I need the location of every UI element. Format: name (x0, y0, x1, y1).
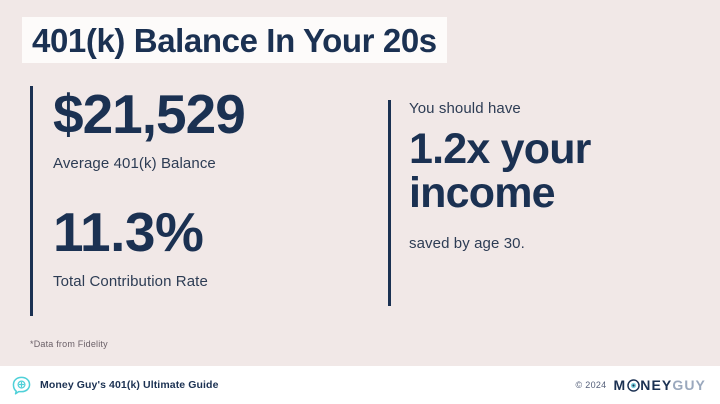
stat-block-contribution-rate: 11.3% Total Contribution Rate (53, 206, 360, 290)
brand-letters-ney: NEY (640, 378, 672, 392)
benchmark-kicker: You should have (409, 100, 703, 117)
speech-bubble-plus-icon (12, 376, 31, 395)
footer-copyright-group: © 2024 M NEY GUY (576, 378, 706, 392)
source-note: *Data from Fidelity (30, 339, 108, 349)
brand-letter-m: M (614, 378, 627, 392)
left-stats-column: $21,529 Average 401(k) Balance 11.3% Tot… (30, 86, 360, 316)
page-title-highlight: 401(k) Balance In Your 20s (22, 17, 447, 63)
stat-value-contribution-rate: 11.3% (53, 206, 360, 259)
benchmark-headline-line-2: income (409, 172, 703, 216)
footer-bar: Money Guy's 401(k) Ultimate Guide © 2024… (0, 366, 720, 404)
stat-label-average-balance: Average 401(k) Balance (53, 155, 360, 172)
footer-brand-group[interactable]: Money Guy's 401(k) Ultimate Guide (12, 376, 219, 395)
footer-guide-title: Money Guy's 401(k) Ultimate Guide (40, 379, 219, 391)
stat-label-contribution-rate: Total Contribution Rate (53, 273, 360, 290)
copyright-text: © 2024 (576, 380, 607, 390)
benchmark-headline: 1.2x your income (409, 128, 703, 216)
benchmark-footnote: saved by age 30. (409, 235, 703, 252)
infographic-canvas: 401(k) Balance In Your 20s $21,529 Avera… (0, 0, 720, 404)
stat-block-average-balance: $21,529 Average 401(k) Balance (53, 88, 360, 172)
moneyguy-logo[interactable]: M NEY GUY (614, 378, 707, 392)
eye-circle-logo-icon (627, 379, 640, 392)
benchmark-headline-line-1: 1.2x your (409, 128, 703, 172)
right-benchmark-column: You should have 1.2x your income saved b… (388, 100, 703, 306)
brand-letters-guy: GUY (672, 378, 706, 392)
stat-value-average-balance: $21,529 (53, 88, 360, 141)
page-title: 401(k) Balance In Your 20s (32, 24, 437, 57)
